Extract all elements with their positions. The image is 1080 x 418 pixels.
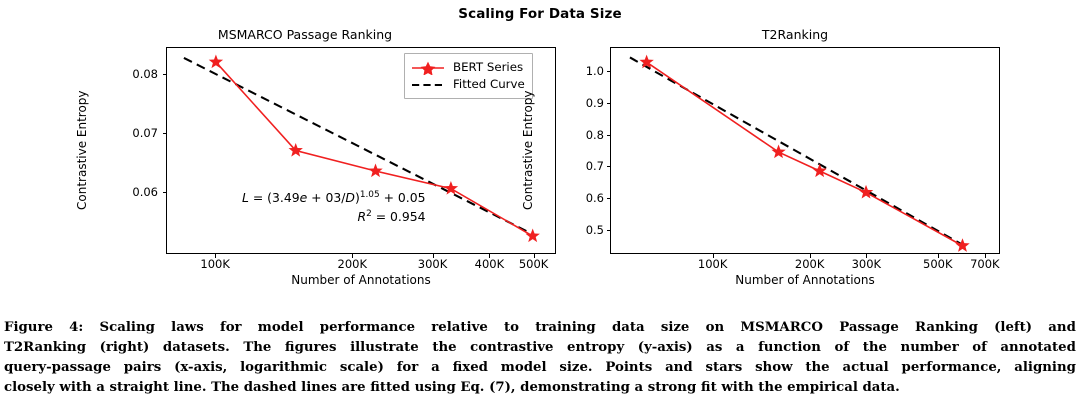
- figure-caption: Figure4:Scalinglawsformodelperformancere…: [4, 318, 1076, 398]
- y-tick-label: 0.9: [586, 96, 604, 110]
- y-tick-labels-left: 0.060.070.08: [112, 47, 158, 254]
- x-axis-label-left: Number of Annotations: [166, 273, 556, 287]
- data-point-star: [812, 163, 826, 177]
- equation-r2-left: 0.954: [390, 209, 425, 224]
- x-axis-label-right: Number of Annotations: [610, 273, 1000, 287]
- x-tick-label: 300K: [418, 257, 448, 271]
- x-tick-labels-left: 100K200K300K400K500K: [166, 254, 556, 274]
- y-axis-label-right: Contrastive Entropy: [520, 47, 536, 254]
- x-tick-label: 300K: [852, 257, 882, 271]
- legend-marker-star-icon-left: [411, 61, 445, 75]
- chart-panel-msmarco: MSMARCO Passage Ranking Contrastive Entr…: [60, 0, 550, 300]
- x-tick-label: 700K: [970, 257, 1000, 271]
- x-tick-label: 100K: [200, 257, 230, 271]
- x-tick-label: 200K: [795, 257, 825, 271]
- x-tick-label: 400K: [475, 257, 505, 271]
- x-tick-labels-right: 100K200K300K500K700K: [610, 254, 1000, 274]
- caption-line-3: query-passagepairs(x-axis,logarithmicsca…: [4, 358, 1076, 378]
- equation-exponent-left: 1.05: [360, 190, 380, 200]
- x-tick-label: 100K: [698, 257, 728, 271]
- data-point-star: [771, 145, 785, 159]
- chart-title-right: T2Ranking: [600, 27, 990, 42]
- caption-line-2: T2Ranking(right)datasets.Thefiguresillus…: [4, 338, 1076, 358]
- caption-line-1: Figure4:Scalinglawsformodelperformancere…: [4, 318, 1076, 338]
- y-tick-label: 0.08: [132, 67, 158, 81]
- y-tick-label: 1.0: [586, 64, 604, 78]
- series-line-0: [647, 62, 963, 246]
- equation-line2-left: R2 = 0.954: [242, 207, 426, 226]
- data-point-star: [444, 181, 458, 195]
- y-tick-label: 0.8: [586, 128, 604, 142]
- equation-offset-left: 0.05: [398, 190, 426, 205]
- chart-panel-t2ranking: T2Ranking Contrastive Entropy 0.50.60.70…: [505, 0, 995, 300]
- caption-line-4: closely with a straight line. The dashed…: [4, 378, 1076, 398]
- y-tick-label: 0.7: [586, 159, 604, 173]
- x-tick-label: 200K: [338, 257, 368, 271]
- data-point-star: [209, 55, 223, 69]
- y-tick-label: 0.5: [586, 223, 604, 237]
- data-point-star: [368, 163, 382, 177]
- data-point-star: [955, 238, 969, 252]
- chart-title-left: MSMARCO Passage Ranking: [110, 27, 500, 42]
- figure-container: Scaling For Data Size MSMARCO Passage Ra…: [0, 0, 1080, 312]
- y-tick-label: 0.07: [132, 126, 158, 140]
- y-axis-label-left: Contrastive Entropy: [74, 47, 90, 254]
- y-tick-label: 0.6: [586, 191, 604, 205]
- legend-marker-dashed-icon-left: [411, 78, 445, 92]
- y-tick-label: 0.06: [132, 185, 158, 199]
- equation-annotation-left: L = (3.49e + 03/D)1.05 + 0.05 R2 = 0.954: [242, 188, 426, 226]
- plot-svg-right: [611, 48, 999, 253]
- y-tick-labels-right: 0.50.60.70.80.91.0: [558, 47, 604, 254]
- x-tick-label: 500K: [923, 257, 953, 271]
- equation-line1-left: L = (3.49e + 03/D)1.05 + 0.05: [242, 190, 426, 205]
- plot-area-right: [610, 47, 1000, 254]
